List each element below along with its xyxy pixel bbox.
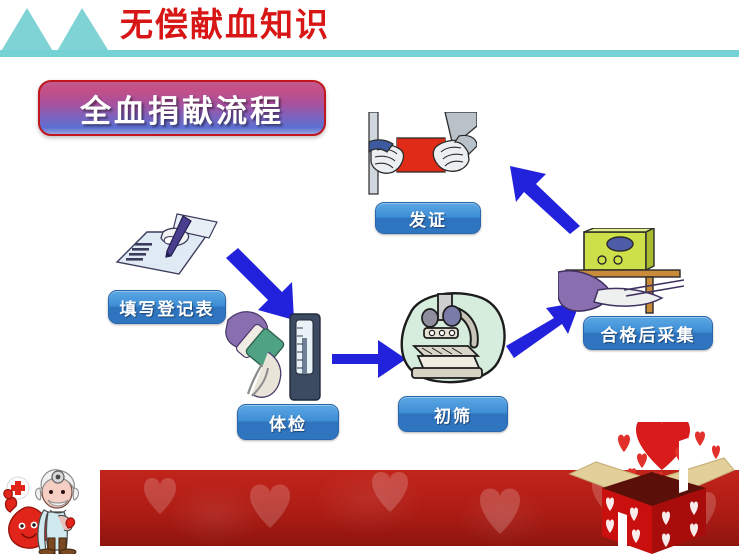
doctor-and-blood-drop-mascot-image [2,468,98,554]
step-label-text: 合格后采集 [601,321,696,346]
step-label-fill-registration-form[interactable]: 填写登记表 [108,290,226,324]
blood-collection-machine-image [558,228,684,316]
step-label-initial-screening[interactable]: 初筛 [398,396,508,432]
microscope-image [392,288,514,388]
heart-gift-box-image [566,422,738,554]
mountains-icon [0,8,110,53]
step-label-text: 填写登记表 [120,295,215,320]
step-label-text: 发证 [409,206,447,231]
step-label-text: 初筛 [434,402,472,427]
step-label-physical-exam[interactable]: 体检 [237,404,339,440]
section-title-plaque: 全血捐献流程 [38,80,326,136]
arrow-collection-to-certificate-icon [492,164,580,234]
step-label-issue-certificate[interactable]: 发证 [375,202,481,234]
step-label-text: 体检 [269,410,307,435]
header-divider [0,50,739,57]
page-title: 无偿献血知识 [120,2,330,48]
hands-exchanging-certificate-image [367,112,477,198]
slide-canvas: 无偿献血知识 全血捐献流程 [0,0,739,554]
hand-writing-form-image [105,212,225,290]
blood-pressure-cuff-image [222,298,326,402]
section-title-text: 全血捐献流程 [40,82,324,134]
step-label-collection-after-qualification[interactable]: 合格后采集 [583,316,713,350]
